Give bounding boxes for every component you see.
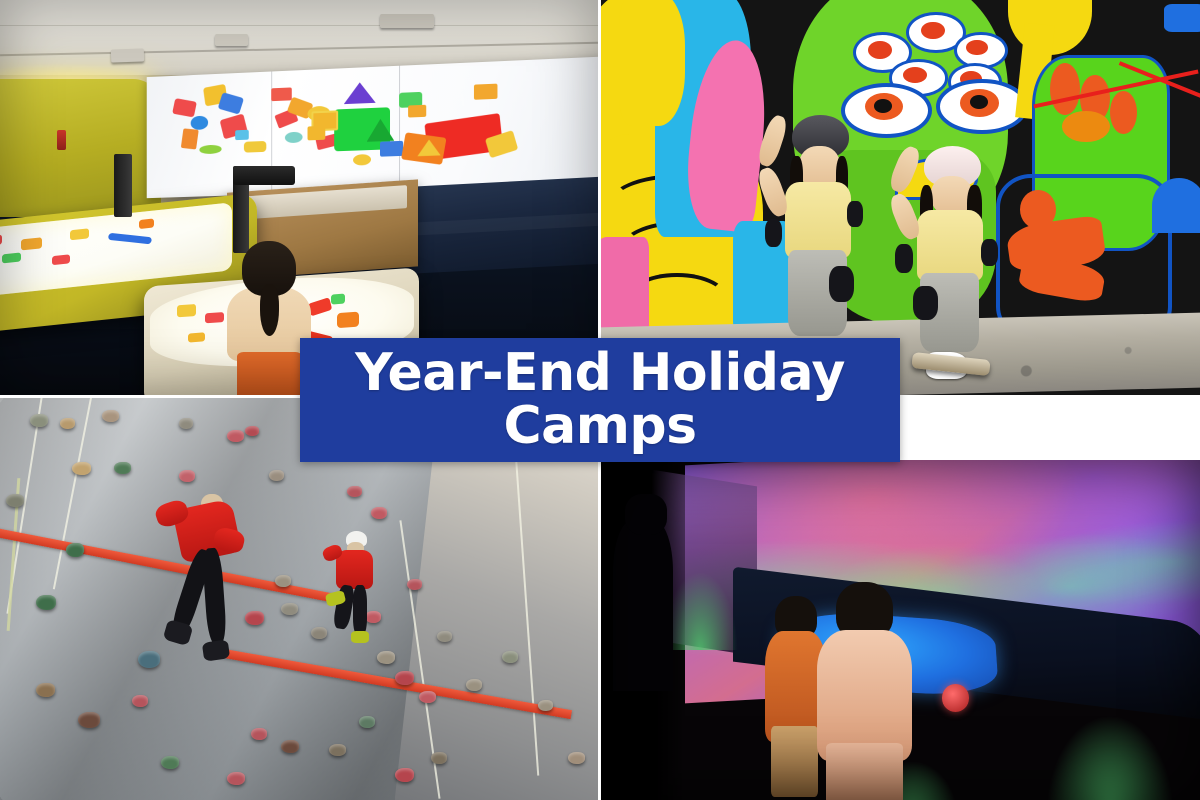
bl-climber-small [317,531,389,660]
tl-ceiling-aircon-unit [380,14,434,28]
photo-top-left-sensory-playroom [0,0,598,395]
photo-top-right-skateboarding-graffiti [601,0,1200,395]
br-hat-silhouette [625,494,667,535]
tl-monitor-arm-2 [233,166,249,253]
photo-bottom-right-digital-gallery [601,460,1200,800]
br-adult-silhouette [613,521,673,691]
br-foliage-right [1044,712,1176,800]
tr-child-skater-left [763,115,877,376]
tl-ceiling-projector-1 [110,49,143,63]
holiday-camps-collage: Year-End Holiday Camps [0,0,1200,800]
page-title: Year-End Holiday Camps [337,347,863,453]
tr-knee-pad [829,266,854,302]
bl-hold [30,414,48,427]
tr-elbow-pad [765,219,782,248]
br-child-right [817,582,913,800]
bl-climber-large [150,494,258,687]
tr-graffiti-wall [601,0,1200,395]
tl-projection-screen [146,57,598,199]
tl-ceiling-projector-2 [215,34,248,47]
tr-child-skater-right [895,146,1009,391]
tl-scene [0,0,598,395]
title-banner: Year-End Holiday Camps [300,338,900,462]
br-red-creature [942,684,969,711]
tl-fire-extinguisher [57,130,66,150]
tl-monitor-arm-1 [114,154,132,217]
